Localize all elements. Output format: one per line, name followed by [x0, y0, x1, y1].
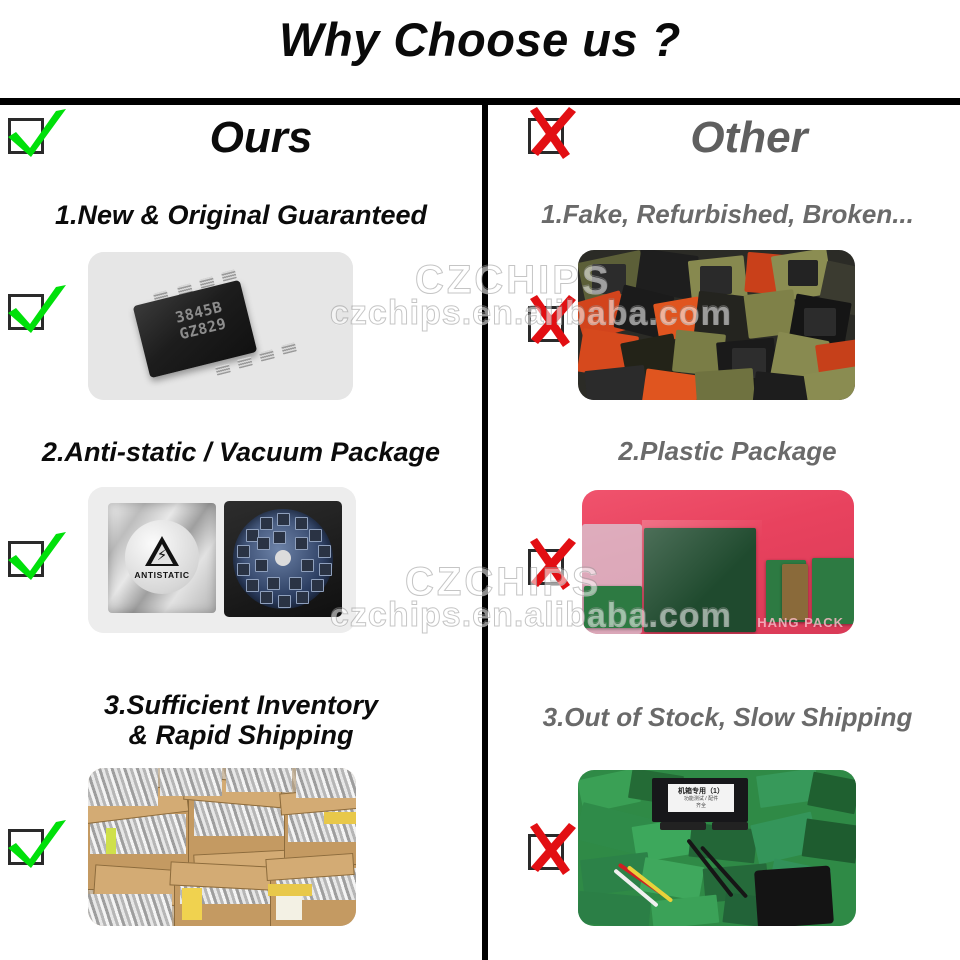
lightning-bolt-icon: ⚡ [157, 548, 168, 563]
header-divider-horizontal [0, 98, 960, 105]
row2-other-photo: HANG PACK [582, 490, 854, 634]
row2-ours-photo: ⚡ ANTISTATIC [88, 487, 356, 633]
bag-print-disc: ⚡ ANTISTATIC [125, 520, 199, 594]
row3-other-text: 3.Out of Stock, Slow Shipping [495, 703, 960, 732]
column-divider-vertical [482, 103, 488, 960]
row2-other-cross-mark [528, 543, 570, 589]
page-title: Why Choose us ? [0, 12, 960, 67]
bag-print-text: HANG PACK [757, 615, 844, 630]
check-mark-icon [4, 280, 70, 342]
row2-ours-text: 2.Anti-static / Vacuum Package [0, 437, 482, 467]
row1-ours-check-mark [8, 288, 50, 334]
row3-other-photo: 机箱专用（1） 功能测试 / 配件 齐全 [578, 770, 856, 926]
antistatic-bag-and-tray-photo: ⚡ ANTISTATIC [88, 487, 356, 633]
black-module-box: 机箱专用（1） 功能测试 / 配件 齐全 [652, 778, 748, 822]
why-choose-us-infographic: Why Choose us ? Ours Other 1.New & Origi… [0, 0, 960, 960]
row1-other-cross-mark [528, 300, 570, 346]
row3-ours-photo [88, 768, 356, 926]
antistatic-bag: ⚡ ANTISTATIC [108, 503, 216, 613]
scrap-chips-pile-photo [578, 250, 855, 400]
column-header-other: Other [488, 107, 960, 169]
row3-ours-check-mark [8, 823, 50, 869]
row1-other-photo [578, 250, 855, 400]
row3-other-cross-mark [528, 828, 570, 874]
warehouse-boxes-photo [88, 768, 356, 926]
green-pcb-scrap-photo: 机箱专用（1） 功能测试 / 配件 齐全 [578, 770, 856, 926]
row2-ours-check-mark [8, 535, 50, 581]
row1-ours-text: 1.New & Original Guaranteed [0, 200, 482, 230]
box-label: 机箱专用（1） 功能测试 / 配件 齐全 [668, 784, 734, 812]
row3-ours-text-line1: 3.Sufficient Inventory [0, 690, 482, 720]
tray-hub [275, 550, 291, 566]
component-tray [224, 501, 342, 617]
row1-ours-photo: 3845B GZ829 [88, 252, 353, 400]
column-header-ours: Ours [0, 107, 482, 169]
row3-ours-text: 3.Sufficient Inventory & Rapid Shipping [0, 690, 482, 750]
tray-reel [233, 509, 333, 609]
pink-plastic-bag-pcb-photo: HANG PACK [582, 490, 854, 634]
column-header-other-label: Other [488, 107, 960, 169]
cross-mark-icon [524, 535, 590, 597]
column-header-ours-label: Ours [0, 107, 482, 169]
row2-other-text: 2.Plastic Package [495, 437, 960, 466]
row1-other-text: 1.Fake, Refurbished, Broken... [495, 200, 960, 229]
check-mark-icon [4, 527, 70, 589]
row3-ours-text-line2: & Rapid Shipping [0, 720, 482, 750]
antistatic-label: ANTISTATIC [125, 570, 199, 580]
check-mark-icon [4, 815, 70, 877]
